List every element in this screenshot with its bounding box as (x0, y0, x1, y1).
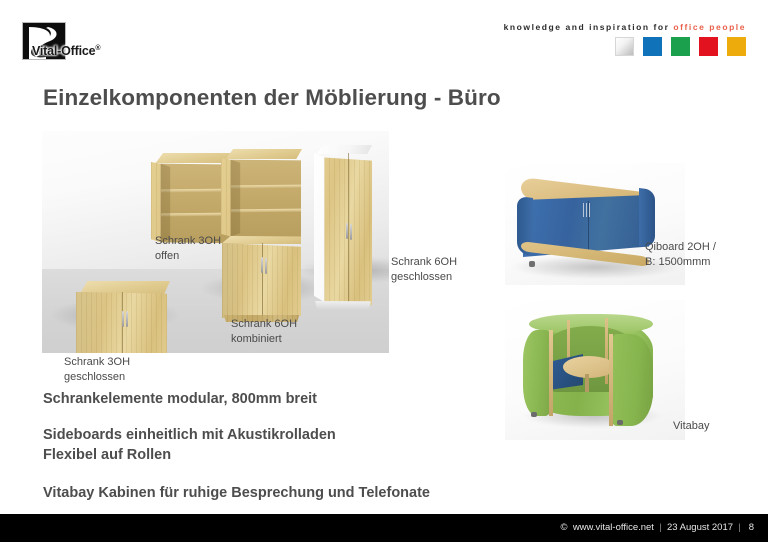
vitabay-table (563, 356, 615, 378)
vitabay-render-image (505, 300, 685, 440)
logo-wordmark-text: Vital-Office (32, 44, 95, 58)
footer-text: © www.vital-office.net | 23 August 2017 … (561, 522, 754, 533)
qiboard-end-right (639, 188, 655, 248)
vitabay-foot-left (531, 412, 537, 417)
swatch-red (699, 37, 718, 56)
footer-bar: © www.vital-office.net | 23 August 2017 … (0, 514, 768, 542)
label-cabinet-3oh-closed: Schrank 3OH geschlossen (64, 355, 130, 385)
vitabay-panel-right-edge (609, 334, 613, 426)
bullet-line-3: Vitabay Kabinen für ruhige Besprechung u… (43, 484, 430, 504)
cabinet-render-image: Schrank 3OH offen Schrank 6OH kombiniert (42, 131, 389, 353)
label-qiboard: Qiboard 2OH / B: 1500mmm (645, 240, 716, 271)
header-tagline: knowledge and inspiration for office peo… (504, 22, 746, 32)
vitabay-panel-left-edge (549, 330, 553, 416)
footer-copyright-icon: © (561, 522, 568, 533)
brand-logo: Vital-Office® (22, 22, 96, 62)
footer-separator-1: | (659, 522, 661, 533)
footer-website: www.vital-office.net (573, 522, 654, 533)
page-title: Einzelkomponenten der Möblierung - Büro (43, 85, 501, 111)
cabinet-3oh-open (151, 162, 231, 244)
label-vitabay: Vitabay (673, 419, 710, 434)
vitabay-table-leg (585, 374, 589, 392)
footer-date: 23 August 2017 (667, 522, 733, 533)
vitabay-panel-left (523, 330, 551, 416)
tagline-accent: office people (673, 22, 746, 32)
slide-root: Vital-Office® knowledge and inspiration … (0, 0, 768, 542)
label-cabinet-6oh-combined: Schrank 6OH kombiniert (231, 317, 297, 347)
vitabay-panel-right (611, 334, 653, 426)
footer-page-number: 8 (749, 522, 754, 533)
qiboard-caster-left (529, 261, 535, 267)
bullet-line-2: Sideboards einheitlich mit Akustikrollad… (43, 426, 336, 465)
brand-swatch-row (615, 37, 746, 56)
swatch-gold (727, 37, 746, 56)
qiboard-handle (583, 203, 592, 217)
logo-wordmark: Vital-Office® (32, 44, 100, 58)
cabinet-6oh-comb-doors (222, 243, 301, 318)
cabinet-6oh-comb-open-part (221, 158, 301, 238)
swatch-green (671, 37, 690, 56)
cabinet-6oh-closed (314, 153, 372, 305)
swatch-white (615, 37, 634, 56)
label-cabinet-3oh-open: Schrank 3OH offen (155, 234, 221, 264)
tagline-plain: knowledge and inspiration for (504, 22, 674, 32)
vitabay-foot-right (617, 420, 623, 425)
bullet-line-1: Schrankelemente modular, 800mm breit (43, 390, 317, 410)
label-cabinet-6oh-closed: Schrank 6OH geschlossen (391, 255, 457, 285)
swatch-blue (643, 37, 662, 56)
cabinet-6oh-closed-plinth (314, 301, 372, 309)
cabinet-3oh-closed (76, 292, 167, 353)
footer-separator-2: | (738, 522, 740, 533)
registered-mark: ® (95, 45, 100, 52)
